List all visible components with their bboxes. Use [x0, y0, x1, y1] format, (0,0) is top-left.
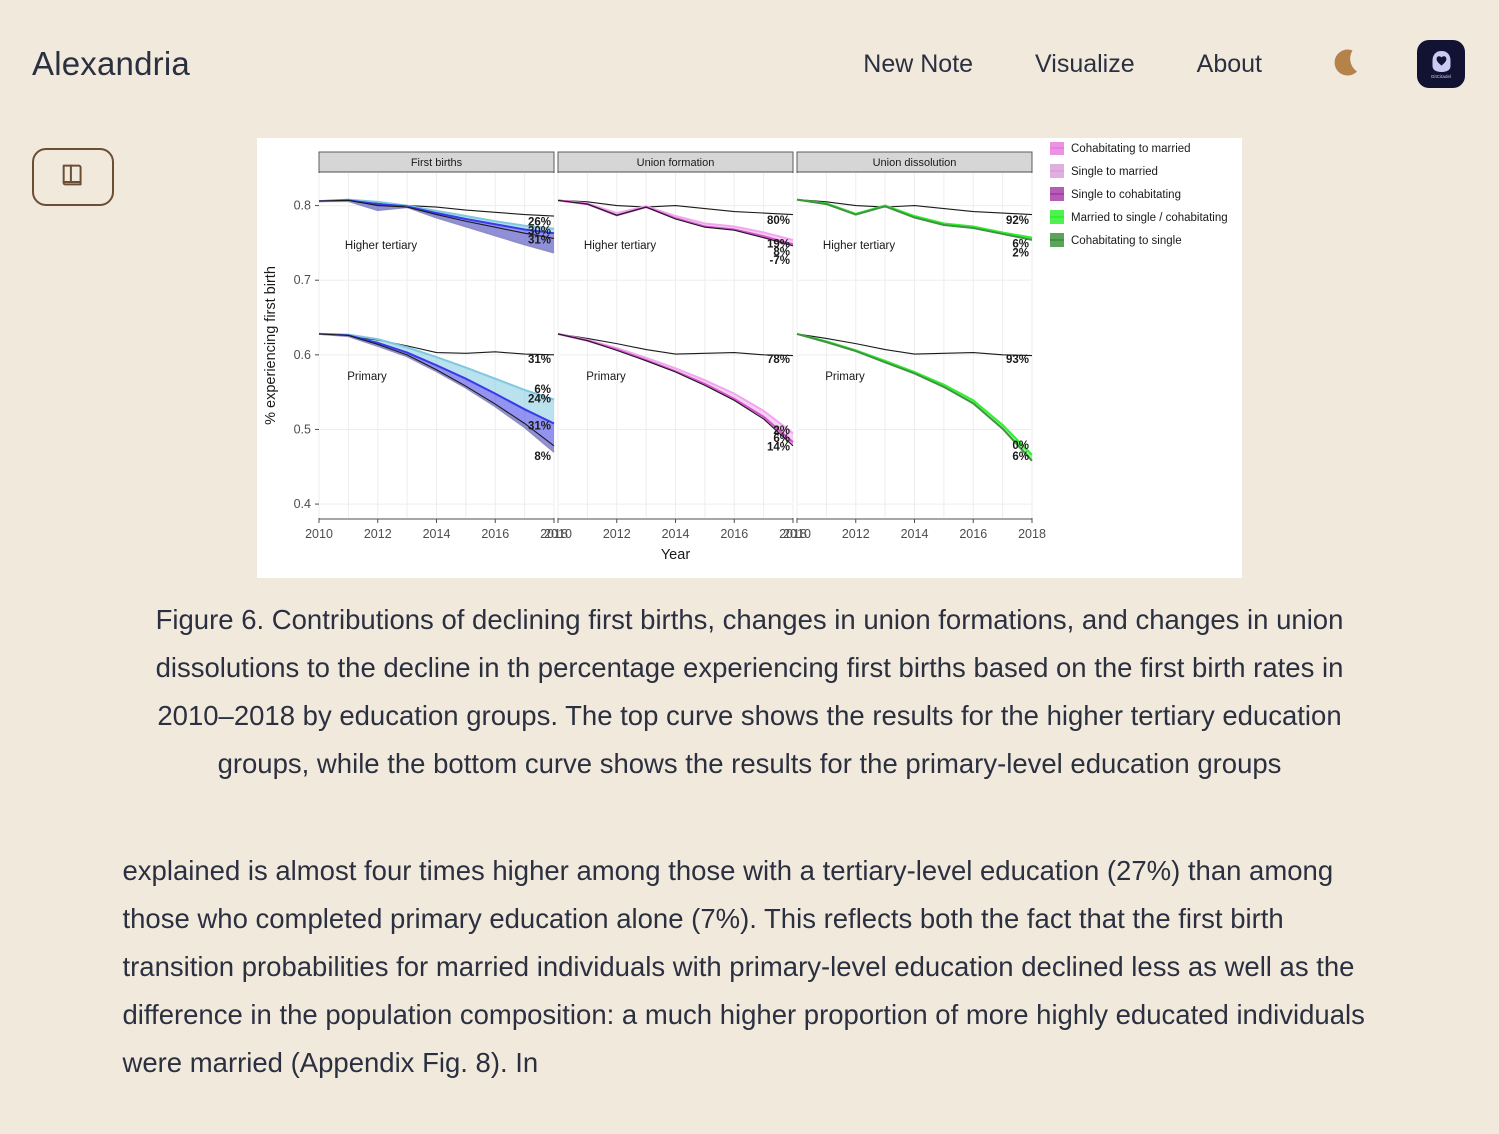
value-annotation: 0% — [1012, 440, 1029, 452]
group-label: Primary — [347, 371, 387, 383]
svg-text:2018: 2018 — [1018, 527, 1046, 541]
svg-text:2010: 2010 — [544, 527, 572, 541]
document-content: First births20102012201420162018Union fo… — [0, 128, 1499, 1087]
svg-text:2012: 2012 — [364, 527, 392, 541]
legend-label: Cohabitating to married — [1071, 143, 1191, 155]
value-annotation: 31% — [528, 420, 551, 432]
value-annotation: -7% — [770, 255, 790, 267]
theme-toggle-button[interactable] — [1327, 43, 1369, 85]
figure-image: First births20102012201420162018Union fo… — [257, 138, 1242, 578]
svg-text:2014: 2014 — [423, 527, 451, 541]
svg-text:2016: 2016 — [959, 527, 987, 541]
svg-text:First births: First births — [411, 157, 463, 169]
svg-text:Year: Year — [661, 547, 690, 563]
nav-new-note[interactable]: New Note — [832, 52, 1004, 77]
value-annotation: 8% — [534, 451, 551, 463]
svg-text:2010: 2010 — [783, 527, 811, 541]
value-annotation: 6% — [1012, 451, 1029, 463]
value-annotation: 80% — [767, 215, 790, 227]
value-annotation: 14% — [767, 441, 790, 453]
svg-text:2014: 2014 — [662, 527, 690, 541]
legend-label: Single to married — [1071, 166, 1158, 178]
legend-label: Single to cohabitating — [1071, 189, 1181, 201]
legend-label: Cohabitating to single — [1071, 235, 1182, 247]
svg-text:0.8: 0.8 — [294, 199, 311, 213]
figure-6-chart: First births20102012201420162018Union fo… — [257, 138, 1242, 578]
svg-text:2012: 2012 — [603, 527, 631, 541]
group-label: Primary — [586, 371, 626, 383]
figure-caption: Figure 6. Contributions of declining fir… — [119, 596, 1381, 787]
svg-text:2016: 2016 — [720, 527, 748, 541]
legend-label: Married to single / cohabitating — [1071, 212, 1228, 224]
value-annotation: 93% — [1006, 354, 1029, 366]
value-annotation: 92% — [1006, 215, 1029, 227]
svg-text:0.7: 0.7 — [294, 273, 311, 287]
value-annotation: 31% — [528, 354, 551, 366]
app-title: Alexandria — [32, 45, 190, 83]
svg-text:% experiencing first birth: % experiencing first birth — [263, 266, 279, 425]
svg-text:Union formation: Union formation — [637, 157, 715, 169]
moon-icon — [1328, 44, 1368, 84]
value-annotation: 24% — [528, 394, 551, 406]
avatar-label: GitCitadel — [1431, 74, 1451, 79]
value-annotation: 2% — [1012, 247, 1029, 259]
svg-text:0.4: 0.4 — [294, 497, 311, 511]
svg-text:0.6: 0.6 — [294, 348, 311, 362]
group-label: Higher tertiary — [823, 240, 895, 252]
svg-text:2016: 2016 — [481, 527, 509, 541]
top-navigation-bar: Alexandria New Note Visualize About GitC… — [0, 0, 1499, 128]
nav-visualize[interactable]: Visualize — [1004, 52, 1166, 77]
group-label: Primary — [825, 371, 865, 383]
body-paragraph: explained is almost four times higher am… — [123, 847, 1377, 1086]
value-annotation: 78% — [767, 354, 790, 366]
svg-text:2012: 2012 — [842, 527, 870, 541]
svg-text:0.5: 0.5 — [294, 422, 311, 436]
gitcitadel-helmet-icon — [1431, 50, 1452, 73]
main-nav: New Note Visualize About GitCitadel — [832, 40, 1465, 88]
svg-text:2014: 2014 — [901, 527, 929, 541]
avatar[interactable]: GitCitadel — [1417, 40, 1465, 88]
group-label: Higher tertiary — [584, 240, 656, 252]
group-label: Higher tertiary — [345, 240, 417, 252]
value-annotation: 31% — [528, 235, 551, 247]
nav-about[interactable]: About — [1166, 52, 1293, 77]
svg-text:2010: 2010 — [305, 527, 333, 541]
svg-text:Union dissolution: Union dissolution — [873, 157, 957, 169]
